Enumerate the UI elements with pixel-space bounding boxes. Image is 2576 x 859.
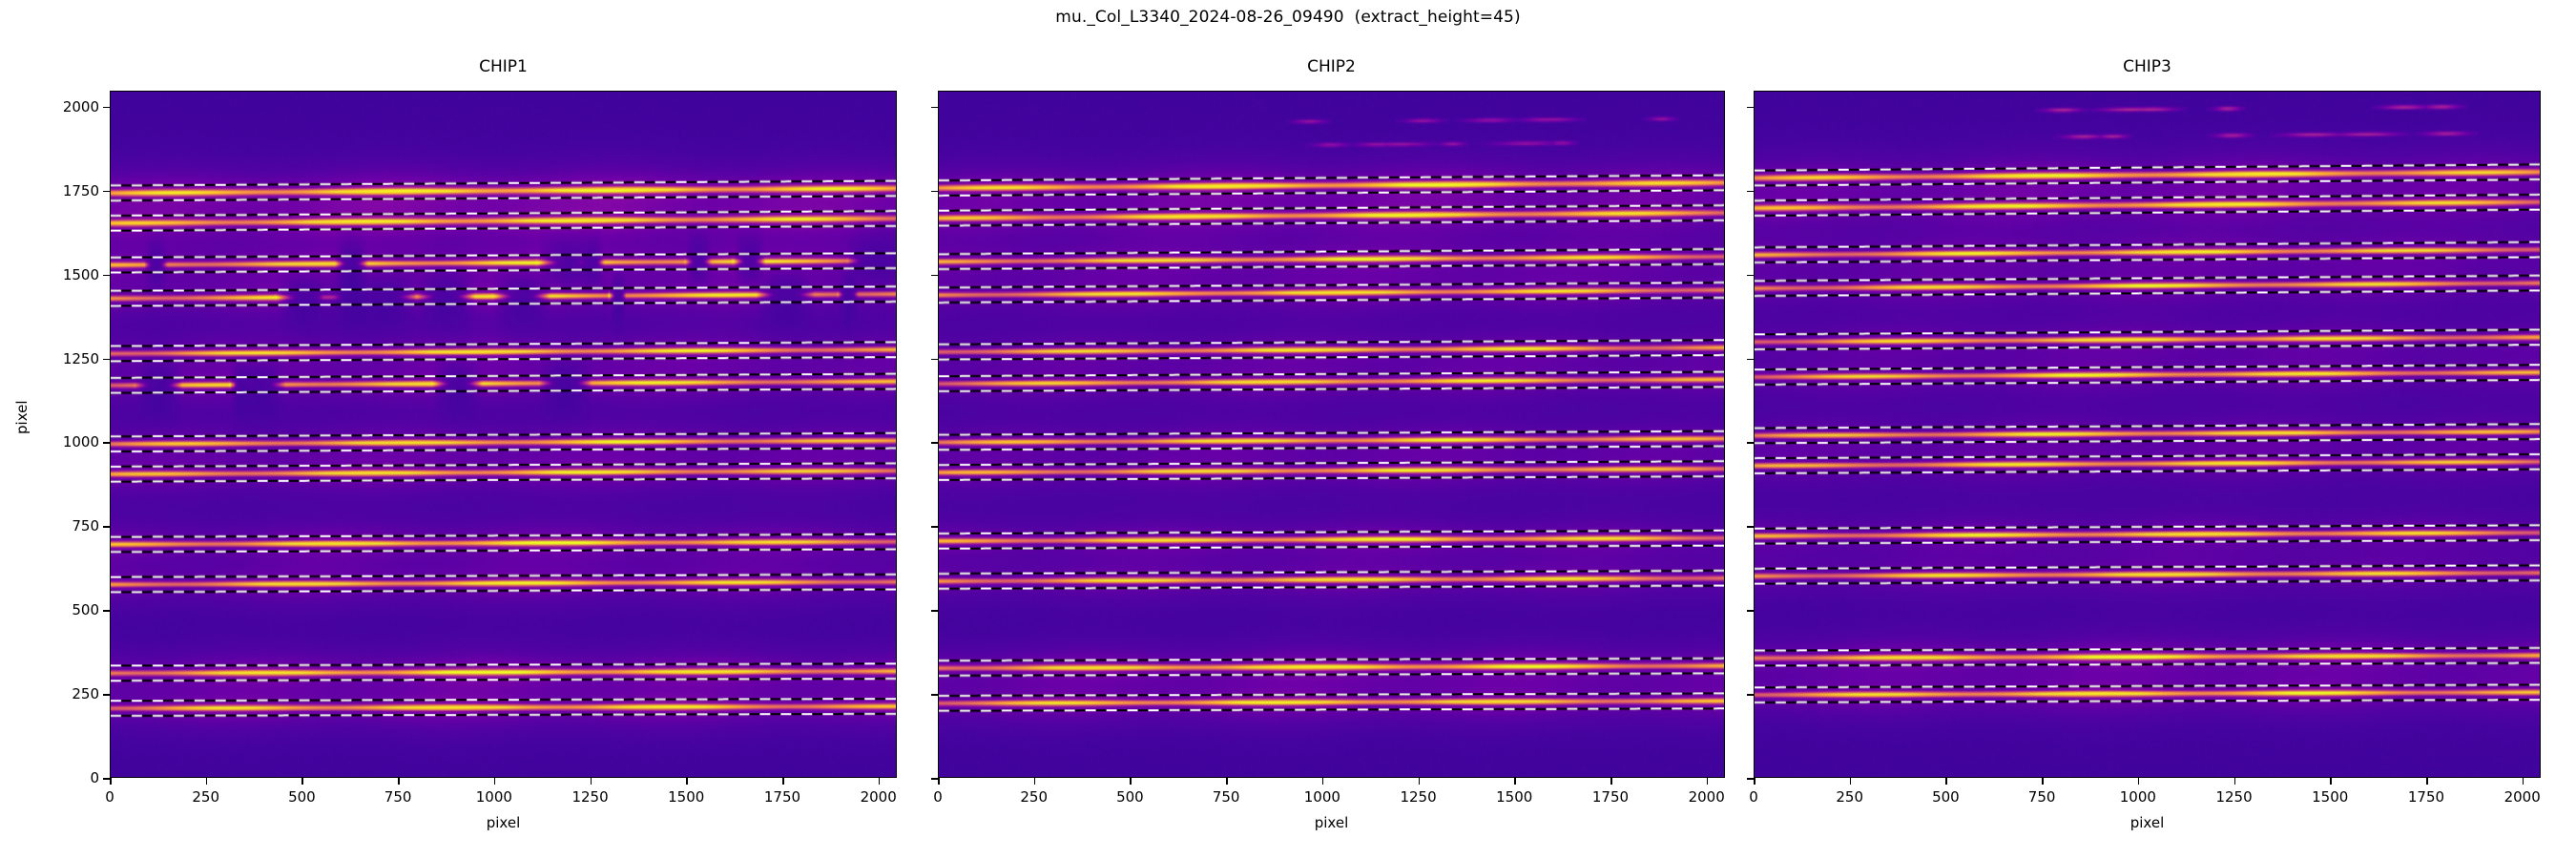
y-tick-label: 250 (72, 685, 99, 702)
x-tick (782, 778, 784, 785)
x-tick-label: 1250 (1400, 788, 1436, 806)
x-tick (1226, 778, 1228, 785)
x-tick-label: 1500 (2312, 788, 2348, 806)
detector-image-chip1 (111, 92, 896, 777)
panel-title-chip2: CHIP2 (938, 57, 1725, 76)
x-tick (2138, 778, 2140, 785)
axes-chip3[interactable] (1754, 91, 2541, 778)
y-tick (103, 107, 110, 109)
y-tick (1747, 107, 1754, 109)
axes-chip2[interactable] (938, 91, 1725, 778)
x-axis-label-chip1: pixel (110, 814, 897, 831)
y-tick (103, 526, 110, 528)
y-tick (103, 442, 110, 444)
y-tick-label: 500 (72, 601, 99, 618)
x-tick (1707, 778, 1709, 785)
x-tick (398, 778, 400, 785)
y-axis-label: pixel (13, 400, 31, 434)
x-tick-label: 0 (1749, 788, 1758, 806)
x-tick (206, 778, 208, 785)
x-tick (1754, 778, 1755, 785)
x-tick-label: 1750 (1592, 788, 1629, 806)
panel-title-chip1: CHIP1 (110, 57, 897, 76)
x-tick-label: 750 (1213, 788, 1240, 806)
x-tick (2330, 778, 2332, 785)
x-tick (2523, 778, 2524, 785)
x-tick (2042, 778, 2044, 785)
x-tick (110, 778, 112, 785)
y-tick (931, 107, 938, 109)
y-tick (103, 275, 110, 277)
x-tick (591, 778, 592, 785)
x-tick (1850, 778, 1852, 785)
x-tick-label: 750 (384, 788, 412, 806)
y-tick (931, 359, 938, 361)
detector-image-chip2 (939, 92, 1724, 777)
x-tick (1419, 778, 1421, 785)
x-tick-label: 500 (1932, 788, 1960, 806)
x-tick-label: 2000 (2504, 788, 2541, 806)
x-tick (1034, 778, 1036, 785)
x-tick-label: 1000 (2120, 788, 2156, 806)
x-tick-label: 250 (1836, 788, 1863, 806)
panel-chip1: CHIP1 0250500750100012501500175020000250… (110, 91, 897, 778)
x-tick-label: 500 (1116, 788, 1144, 806)
y-tick (931, 191, 938, 193)
y-tick-label: 1750 (63, 182, 99, 199)
x-tick-label: 1000 (476, 788, 512, 806)
y-tick (103, 359, 110, 361)
x-tick-label: 1250 (571, 788, 608, 806)
x-tick (1610, 778, 1612, 785)
y-tick (931, 442, 938, 444)
y-tick (931, 694, 938, 696)
y-tick (1747, 778, 1754, 780)
x-tick (2234, 778, 2236, 785)
x-tick (1514, 778, 1516, 785)
y-tick-label: 750 (72, 517, 99, 534)
y-tick (1747, 359, 1754, 361)
panel-chip2: CHIP2 025050075010001250150017502000 pix… (938, 91, 1725, 778)
x-tick (494, 778, 496, 785)
y-tick (1747, 442, 1754, 444)
detector-image-chip3 (1755, 92, 2540, 777)
x-tick (2426, 778, 2428, 785)
x-tick-label: 250 (192, 788, 219, 806)
x-tick (879, 778, 881, 785)
x-tick-label: 1500 (668, 788, 704, 806)
x-tick (686, 778, 688, 785)
x-tick-label: 1750 (2408, 788, 2444, 806)
x-tick-label: 1750 (764, 788, 800, 806)
axes-chip1[interactable] (110, 91, 897, 778)
figure-canvas: mu._Col_L3340_2024-08-26_09490 (extract_… (0, 0, 2576, 859)
panel-title-chip3: CHIP3 (1754, 57, 2541, 76)
x-tick (1945, 778, 1947, 785)
x-tick-label: 750 (2028, 788, 2056, 806)
y-tick (103, 694, 110, 696)
x-tick-label: 1500 (1496, 788, 1532, 806)
y-tick-label: 1250 (63, 350, 99, 367)
y-tick (103, 191, 110, 193)
x-tick-label: 0 (105, 788, 114, 806)
x-tick-label: 2000 (861, 788, 897, 806)
figure-suptitle: mu._Col_L3340_2024-08-26_09490 (extract_… (0, 8, 2576, 27)
panel-chip3: CHIP3 025050075010001250150017502000 pix… (1754, 91, 2541, 778)
y-tick (1747, 610, 1754, 612)
y-tick (931, 778, 938, 780)
y-tick-label: 1500 (63, 266, 99, 283)
x-axis-label-chip3: pixel (1754, 814, 2541, 831)
y-tick (1747, 275, 1754, 277)
x-tick-label: 0 (933, 788, 943, 806)
y-tick (931, 526, 938, 528)
y-tick (1747, 191, 1754, 193)
x-tick-label: 2000 (1689, 788, 1725, 806)
y-tick-label: 0 (90, 769, 99, 786)
y-tick (931, 275, 938, 277)
y-tick (1747, 526, 1754, 528)
y-tick (103, 610, 110, 612)
y-tick (103, 778, 110, 780)
y-tick (1747, 694, 1754, 696)
x-tick-label: 500 (288, 788, 316, 806)
x-tick (938, 778, 940, 785)
x-axis-label-chip2: pixel (938, 814, 1725, 831)
y-tick-label: 1000 (63, 433, 99, 450)
x-tick (301, 778, 303, 785)
x-tick-label: 1000 (1304, 788, 1340, 806)
y-tick-label: 2000 (63, 98, 99, 115)
x-tick (1322, 778, 1324, 785)
x-tick-label: 1250 (2215, 788, 2252, 806)
y-tick (931, 610, 938, 612)
x-tick (1130, 778, 1132, 785)
x-tick-label: 250 (1020, 788, 1048, 806)
